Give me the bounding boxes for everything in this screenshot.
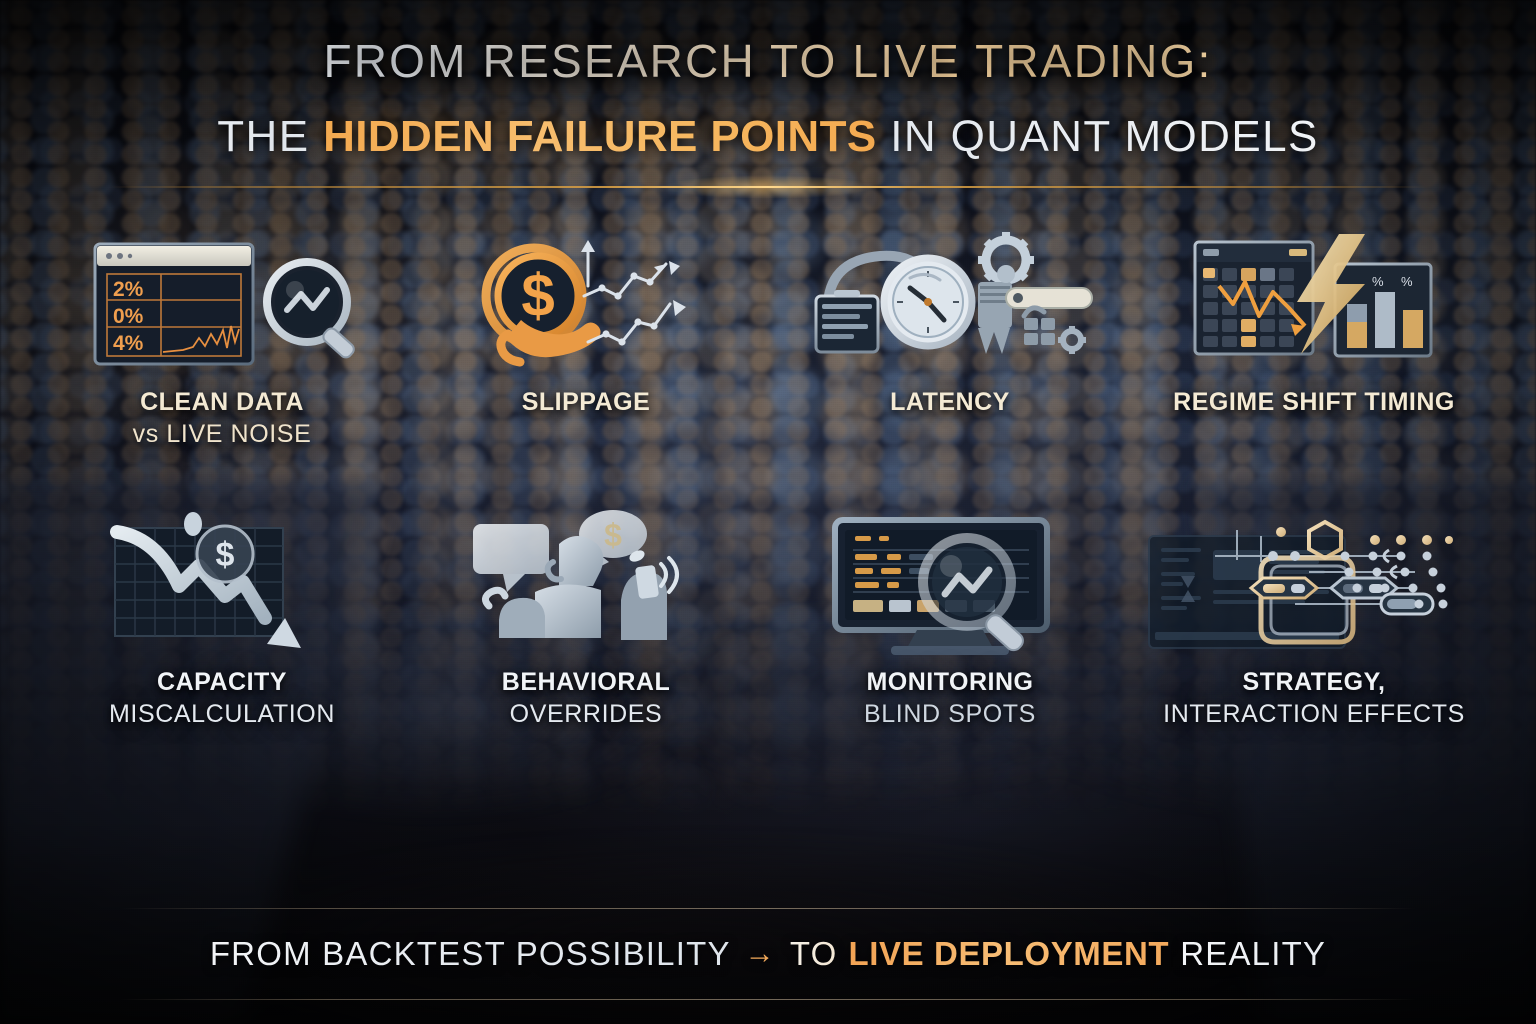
person-speech-bubbles-icon: $ (404, 510, 768, 660)
tile-capacity[interactable]: $ CAPACITY MISCALCULATION (40, 510, 404, 765)
icon-value-1: 0% (113, 305, 144, 328)
title-line-2-prefix: THE (217, 112, 323, 161)
footer-banner: FROM BACKTEST POSSIBILITY → TO LIVE DEPL… (0, 908, 1536, 1000)
icon-value-0: 2% (113, 278, 144, 301)
data-window-magnifier-icon: 2% 0% 4% (40, 230, 404, 380)
failure-points-grid: 2% 0% 4% (40, 230, 1496, 765)
footer-to-text: TO (790, 935, 838, 973)
icon-value-2: 4% (113, 332, 144, 355)
svg-text:%: % (1401, 274, 1413, 289)
tile-label: REGIME SHIFT TIMING (1173, 386, 1455, 418)
title-block: FROM RESEARCH TO LIVE TRADING: THE HIDDE… (0, 34, 1536, 162)
right-arrow-icon: → (745, 937, 776, 971)
tile-label-line-2: BLIND SPOTS (864, 698, 1036, 730)
monitor-dashboard-magnifier-icon (768, 510, 1132, 660)
tile-label-line-1: BEHAVIORAL (502, 666, 670, 698)
tile-label: SLIPPAGE (522, 386, 651, 418)
tile-label-line-1: CLEAN DATA (133, 386, 312, 418)
footer-tail-text: REALITY (1180, 935, 1326, 973)
tile-label-line-1: CAPACITY (109, 666, 335, 698)
tile-label: CLEAN DATA vs LIVE NOISE (133, 386, 312, 450)
title-line-2-suffix: IN QUANT MODELS (877, 112, 1319, 161)
footer-accent-text: LIVE DEPLOYMENT (849, 935, 1170, 973)
grid-row-2: $ CAPACITY MISCALCULATION (40, 510, 1496, 765)
tile-behavioral[interactable]: $ (404, 510, 768, 765)
tile-label-line-2: MISCALCULATION (109, 698, 335, 730)
tile-clean-data[interactable]: 2% 0% 4% (40, 230, 404, 485)
svg-text:$: $ (216, 536, 235, 574)
svg-text:%: % (1372, 274, 1384, 289)
clock-gear-server-worker-icon (768, 230, 1132, 380)
tile-label-line-1: STRATEGY, (1163, 666, 1465, 698)
footer-plain-text: FROM BACKTEST POSSIBILITY (210, 935, 731, 973)
calendar-lightning-barchart-icon: %% (1132, 230, 1496, 380)
grid-row-1: 2% 0% 4% (40, 230, 1496, 485)
tile-strategy-interaction[interactable]: STRATEGY, INTERACTION EFFECTS (1132, 510, 1496, 765)
tile-label-line-2: INTERACTION EFFECTS (1163, 698, 1465, 730)
tile-label-line-1: LATENCY (890, 386, 1010, 418)
svg-text:$: $ (521, 262, 554, 329)
tile-regime-shift[interactable]: %% REGIME SHIFT TIMING (1132, 230, 1496, 485)
tile-label: CAPACITY MISCALCULATION (109, 666, 335, 730)
tile-label-line-2: vs LIVE NOISE (133, 418, 312, 450)
tile-label-line-1: SLIPPAGE (522, 386, 651, 418)
footer-text: FROM BACKTEST POSSIBILITY → TO LIVE DEPL… (0, 908, 1536, 1000)
tile-label: BEHAVIORAL OVERRIDES (502, 666, 670, 730)
network-nodes-strategy-icon (1132, 510, 1496, 660)
tile-label: LATENCY (890, 386, 1010, 418)
tile-latency[interactable]: LATENCY (768, 230, 1132, 485)
dollar-coin-hand-arrows-icon: $ (404, 230, 768, 380)
title-divider-rule (108, 186, 1428, 188)
tile-label: MONITORING BLIND SPOTS (864, 666, 1036, 730)
title-line-1: FROM RESEARCH TO LIVE TRADING: (0, 34, 1536, 90)
tile-label-line-1: MONITORING (864, 666, 1036, 698)
tile-slippage[interactable]: $ (404, 230, 768, 485)
tile-label-line-1: REGIME SHIFT TIMING (1173, 386, 1455, 418)
tile-monitoring[interactable]: MONITORING BLIND SPOTS (768, 510, 1132, 765)
tile-label: STRATEGY, INTERACTION EFFECTS (1163, 666, 1465, 730)
tile-label-line-2: OVERRIDES (502, 698, 670, 730)
title-line-2-accent: HIDDEN FAILURE POINTS (323, 112, 877, 161)
title-line-2: THE HIDDEN FAILURE POINTS IN QUANT MODEL… (0, 112, 1536, 162)
svg-text:$: $ (604, 517, 622, 553)
declining-arrow-coin-grid-icon: $ (40, 510, 404, 660)
